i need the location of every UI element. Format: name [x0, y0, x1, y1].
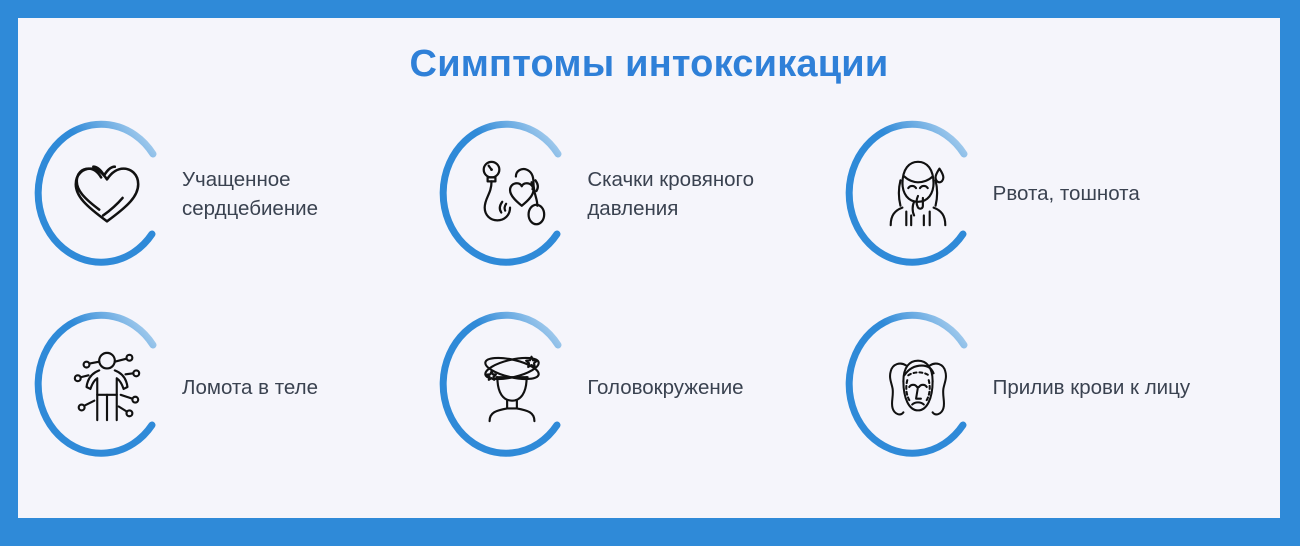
symptom-label-line2: давления [587, 194, 754, 224]
double-heart-icon [68, 154, 146, 234]
nausea-person-icon [879, 154, 957, 234]
symptom-label: Рвота, тошнота [993, 179, 1140, 209]
symptom-label: Скачки кровяного давления [587, 165, 754, 224]
icon-ring-vomiting [851, 121, 985, 267]
page-title: Симптомы интоксикации [18, 44, 1280, 86]
symptom-label-line1: Ломота в теле [182, 373, 318, 403]
body-pain-points-icon [68, 347, 146, 427]
symptom-grid: Учащенное сердцебиение [18, 86, 1280, 518]
icon-ring-dizziness [445, 312, 579, 462]
dizziness-head-icon [473, 347, 551, 427]
symptom-label-line1: Учащенное [182, 165, 318, 195]
symptom-label-line1: Скачки кровяного [587, 165, 754, 195]
symptom-item-body-ache[interactable]: Ломота в теле [40, 291, 445, 484]
symptom-label: Прилив крови к лицу [993, 373, 1190, 403]
symptom-item-heartbeat[interactable]: Учащенное сердцебиение [40, 98, 445, 291]
symptom-item-dizziness[interactable]: Головокружение [445, 291, 850, 484]
symptom-item-facial-flushing[interactable]: Прилив крови к лицу [851, 291, 1256, 484]
symptom-label: Головокружение [587, 373, 743, 403]
blood-pressure-monitor-icon [473, 154, 551, 234]
icon-ring-body-ache [40, 312, 174, 462]
symptom-label: Учащенное сердцебиение [182, 165, 318, 224]
symptom-label: Ломота в теле [182, 373, 318, 403]
symptom-label-line2: сердцебиение [182, 194, 318, 224]
infographic-poster: Симптомы интоксикации [0, 0, 1300, 546]
icon-ring-heartbeat [40, 121, 174, 267]
symptom-item-blood-pressure[interactable]: Скачки кровяного давления [445, 98, 850, 291]
symptom-label-line1: Головокружение [587, 373, 743, 403]
icon-ring-facial-flushing [851, 312, 985, 462]
flushed-face-icon [879, 347, 957, 427]
icon-ring-blood-pressure [445, 121, 579, 267]
symptom-label-line1: Рвота, тошнота [993, 179, 1140, 209]
poster-card: Симптомы интоксикации [18, 18, 1280, 518]
symptom-item-vomiting[interactable]: Рвота, тошнота [851, 98, 1256, 291]
symptom-label-line1: Прилив крови к лицу [993, 373, 1190, 403]
